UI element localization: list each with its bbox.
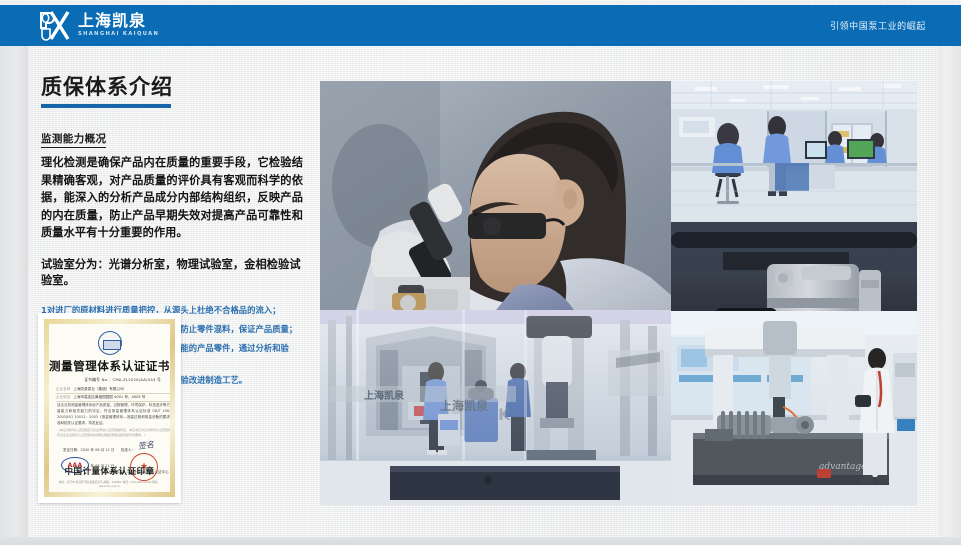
header-slogan: 引领中国泵工业的崛起 (830, 19, 926, 32)
page-right-margin (939, 45, 961, 545)
slide-canvas: 上海凯泉 SHANGHAI KAIQUAN 引领中国泵工业的崛起 质保体系介绍 … (0, 0, 961, 545)
title-underline (41, 104, 171, 108)
issue-date-value: 2020 年 08 月 12 日 (81, 448, 115, 452)
certificate-title: 测量管理体系认证证书 (49, 358, 170, 374)
certificate-field-key: 企业地址 (56, 395, 70, 399)
kaiquan-logo-icon (37, 10, 71, 41)
photo-microscope[interactable] (320, 81, 671, 310)
brand-logo[interactable]: 上海凯泉 SHANGHAI KAIQUAN (37, 10, 159, 41)
certificate-note: （本证书所列认证范围应与企业申请认证范围相符合，本证书仅对证书所列认证范围有效。… (57, 428, 175, 437)
section-paragraph: 理化检测是确保产品内在质量的重要手段，它检验结果精确客观，对产品质量的评价具有客… (41, 154, 303, 242)
photo-testing[interactable]: 上海凯泉 上海凯泉 K (320, 310, 671, 505)
divider (56, 393, 175, 394)
certificate-body-text: 该企业的测量管理体系经产品质量、过程管理、环境保护、科技进步等方面测量能力和相关… (57, 402, 175, 426)
photo-lab-room[interactable] (671, 81, 917, 222)
certificate-image[interactable]: 测量管理体系认证证书 证书编号 No.：CMA-ZL2020(AA)044 号 … (38, 313, 181, 503)
certificate-field-value: 上海凯泉泵业（集团）有限公司 (73, 387, 123, 391)
photo-grid: ZEISS HAL 100 Observer (320, 81, 917, 505)
certificate-frame: 测量管理体系认证证书 证书编号 No.：CMA-ZL2020(AA)044 号 … (44, 319, 175, 497)
national-emblem-icon (98, 331, 122, 355)
photo-cmm[interactable]: advantage (671, 311, 917, 505)
certificate-approver-label: 批准人： (121, 448, 135, 453)
page-bottom-margin (0, 537, 961, 545)
brand-name-en: SHANGHAI KAIQUAN (78, 32, 159, 37)
certificate-footer: 中国计量体系认证印章 (49, 465, 170, 477)
section-heading: 监测能力概况 (41, 131, 106, 148)
laboratory-types-line: 试验室分为：光谱分析室，物理试验室，金相检验试验室。 (41, 256, 309, 288)
page-left-margin (0, 45, 28, 545)
header-bar: 上海凯泉 SHANGHAI KAIQUAN 引领中国泵工业的崛起 (0, 5, 961, 46)
page-title: 质保体系介绍 (41, 76, 309, 99)
certificate-field-value: 上海市嘉定区黄渡园园园 4001 号、4005 号 (73, 395, 145, 399)
brand-name-cn: 上海凯泉 (78, 13, 159, 29)
certificate-number: 证书编号 No.：CMA-ZL2020(AA)044 号 (84, 377, 161, 383)
issue-date-label: 发证日期： (63, 448, 81, 452)
certificate-issue-date: 发证日期：2020 年 08 月 12 日 (63, 448, 114, 453)
certificate-number-value: CMA-ZL2020(AA)044 号 (112, 377, 161, 382)
handwritten-signature: 签名 (137, 439, 154, 452)
certificate-field-key: 企业名称 (56, 387, 70, 391)
certificate-field: 企业名称上海凯泉泵业（集团）有限公司 (56, 387, 124, 392)
certificate-field: 企业地址上海市嘉定区黄渡园园园 4001 号、4005 号 (56, 395, 145, 400)
certificate-number-label: 证书编号 No.： (84, 377, 112, 382)
certificate-footer-sub: 地址：北京市·海淀区学院南路某某号·邮编：100081 电话：010-0000-… (49, 480, 170, 488)
